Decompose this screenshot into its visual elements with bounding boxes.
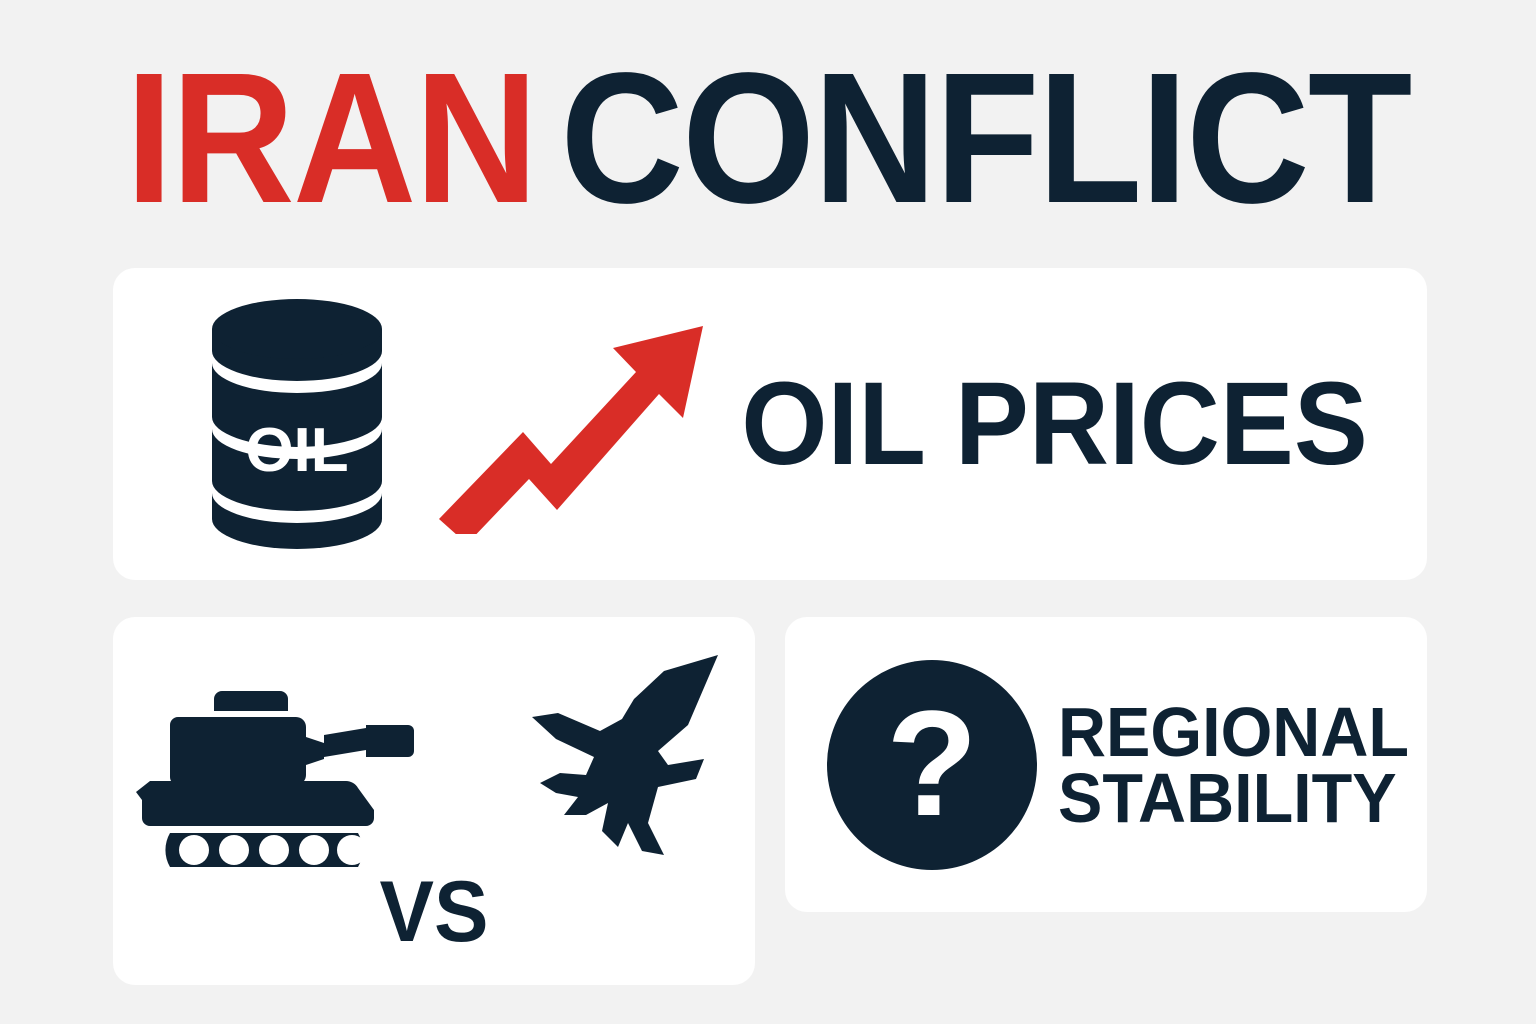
card-military-versus[interactable]: VS	[113, 617, 755, 985]
page-title: IRANCONFLICT	[61, 46, 1474, 232]
title-word-iran: IRAN	[125, 35, 536, 242]
versus-label: VS	[129, 869, 739, 955]
barrel-oil-text: OIL	[246, 416, 349, 485]
stability-label-line-1: REGIONAL	[1058, 699, 1409, 765]
upward-trend-arrow-icon	[422, 314, 721, 534]
versus-icons-row	[113, 649, 755, 899]
stability-card-row: ? REGIONAL STABILITY	[785, 617, 1427, 912]
infographic-canvas: IRANCONFLICT OIL	[0, 0, 1536, 1024]
oil-card-row: OIL OIL PRICES	[113, 268, 1427, 580]
question-mark-circle-icon: ?	[807, 657, 1058, 873]
oil-prices-label: OIL PRICES	[742, 365, 1406, 483]
title-word-conflict: CONFLICT	[560, 35, 1410, 242]
oil-barrel-icon: OIL	[173, 299, 422, 549]
card-oil-prices[interactable]: OIL OIL PRICES	[113, 268, 1427, 580]
fighter-jet-icon	[482, 647, 732, 902]
svg-text:?: ?	[886, 679, 978, 847]
card-regional-stability[interactable]: ? REGIONAL STABILITY	[785, 617, 1427, 912]
stability-label-line-2: STABILITY	[1058, 765, 1409, 831]
regional-stability-label: REGIONAL STABILITY	[1058, 699, 1409, 831]
tank-icon	[136, 677, 436, 872]
